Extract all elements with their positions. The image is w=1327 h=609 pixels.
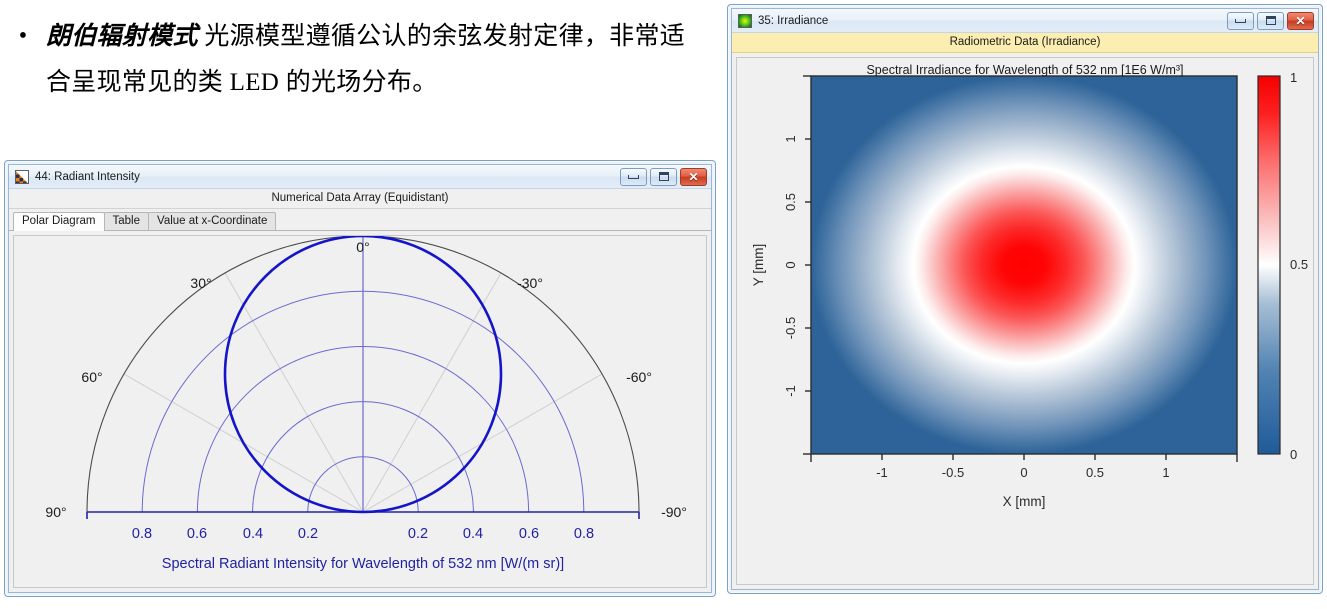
xaxis bbox=[811, 454, 1237, 462]
green-gradient-icon bbox=[738, 14, 752, 28]
ytick-1: 1 bbox=[783, 135, 798, 142]
polar-angle-labels: 0° 30° -30° 60° -60° 90° -90° bbox=[45, 239, 687, 520]
rtick-left-0.2: 0.2 bbox=[298, 526, 318, 542]
heatmap-chart-svg: 1 0.5 0 -0.5 -1 Y [mm] bbox=[737, 58, 1317, 588]
radiant-window-controls[interactable]: ✕ bbox=[620, 168, 709, 186]
rtick-left-0.6: 0.6 bbox=[187, 526, 207, 542]
irradiance-plot-title: Spectral Irradiance for Wavelength of 53… bbox=[732, 63, 1318, 77]
ytick-0.5: 0.5 bbox=[783, 193, 798, 211]
ytick-0: 0 bbox=[783, 261, 798, 268]
xtick-1: 1 bbox=[1162, 465, 1169, 480]
xaxis-tick-labels: -1 -0.5 0 0.5 1 bbox=[876, 465, 1169, 480]
minimize-icon bbox=[1235, 19, 1246, 23]
close-button[interactable]: ✕ bbox=[680, 168, 707, 186]
irradiance-window-inner: 35: Irradiance ✕ Radiometric Data (Irrad… bbox=[731, 8, 1319, 590]
maximize-button[interactable] bbox=[650, 168, 677, 186]
xtick-0: 0 bbox=[1020, 465, 1027, 480]
spoke-minus30 bbox=[363, 273, 501, 512]
close-button[interactable]: ✕ bbox=[1287, 12, 1314, 30]
radiant-window-title: 44: Radiant Intensity bbox=[35, 171, 620, 183]
minimize-button[interactable] bbox=[620, 168, 647, 186]
radiant-window-inner: 44: Radiant Intensity ✕ Numerical Data A… bbox=[8, 164, 712, 593]
polar-chart-svg: 0° 30° -30° 60° -60° 90° -90° 0.8 0.6 0.… bbox=[14, 236, 711, 592]
polar-radial-labels: 0.8 0.6 0.4 0.2 0.2 0.4 0.6 0.8 bbox=[132, 526, 594, 542]
polar-grid bbox=[87, 236, 639, 519]
xaxis-label: X [mm] bbox=[1003, 494, 1046, 509]
cbtick-0: 0 bbox=[1290, 447, 1297, 462]
radiant-intensity-window[interactable]: 44: Radiant Intensity ✕ Numerical Data A… bbox=[4, 160, 716, 597]
colorbar-tick-labels: 1 0.5 0 bbox=[1290, 70, 1308, 462]
checkerboard-icon bbox=[15, 170, 29, 184]
irradiance-subtitle: Radiometric Data (Irradiance) bbox=[732, 33, 1318, 53]
maximize-button[interactable] bbox=[1257, 12, 1284, 30]
bullet-emphasis: 朗伯辐射模式 bbox=[46, 23, 198, 50]
bullet-marker: • bbox=[0, 14, 46, 58]
tab-value-at-x-coordinate[interactable]: Value at x-Coordinate bbox=[148, 212, 276, 230]
spoke-30 bbox=[225, 273, 363, 512]
rtick-right-0.6: 0.6 bbox=[519, 526, 539, 542]
xtick-minus05: -0.5 bbox=[942, 465, 964, 480]
ytick-minus1: -1 bbox=[783, 385, 798, 397]
radiant-tabstrip[interactable]: Polar Diagram Table Value at x-Coordinat… bbox=[9, 209, 711, 231]
angle-label-0: 0° bbox=[356, 239, 369, 255]
ytick-minus05: -0.5 bbox=[783, 317, 798, 339]
yaxis-tick-labels: 1 0.5 0 -0.5 -1 bbox=[783, 135, 798, 396]
xtick-minus1: -1 bbox=[876, 465, 888, 480]
irradiance-titlebar[interactable]: 35: Irradiance ✕ bbox=[732, 9, 1318, 33]
minimize-button[interactable] bbox=[1227, 12, 1254, 30]
yaxis-label: Y [mm] bbox=[751, 244, 766, 287]
irradiance-window-controls[interactable]: ✕ bbox=[1227, 12, 1316, 30]
rtick-right-0.4: 0.4 bbox=[463, 526, 483, 542]
angle-label-30: 30° bbox=[190, 275, 211, 291]
irradiance-plot-pane: 1 0.5 0 -0.5 -1 Y [mm] bbox=[736, 57, 1314, 585]
heatmap-image bbox=[811, 76, 1237, 454]
angle-label-60: 60° bbox=[81, 369, 102, 385]
rtick-right-0.8: 0.8 bbox=[574, 526, 594, 542]
polar-plot-pane: 0° 30° -30° 60° -60° 90° -90° 0.8 0.6 0.… bbox=[13, 235, 707, 588]
xtick-05: 0.5 bbox=[1086, 465, 1104, 480]
irradiance-window[interactable]: 35: Irradiance ✕ Radiometric Data (Irrad… bbox=[727, 4, 1323, 594]
polar-xaxis-label: Spectral Radiant Intensity for Wavelengt… bbox=[162, 556, 564, 572]
close-icon: ✕ bbox=[1295, 15, 1305, 27]
angle-label-minus30: -30° bbox=[517, 275, 543, 291]
bullet-paragraph: • 朗伯辐射模式 光源模型遵循公认的余弦发射定律，非常适合呈现常见的类 LED … bbox=[0, 14, 700, 106]
colorbar bbox=[1258, 76, 1280, 454]
yaxis bbox=[803, 76, 811, 454]
angle-label-minus90: -90° bbox=[661, 504, 687, 520]
bullet-text: 朗伯辐射模式 光源模型遵循公认的余弦发射定律，非常适合呈现常见的类 LED 的光… bbox=[46, 14, 700, 106]
tab-table[interactable]: Table bbox=[104, 212, 150, 230]
tab-polar-diagram[interactable]: Polar Diagram bbox=[13, 212, 105, 231]
rtick-left-0.8: 0.8 bbox=[132, 526, 152, 542]
minimize-icon bbox=[628, 175, 639, 179]
irradiance-plot-canvas: 1 0.5 0 -0.5 -1 Y [mm] bbox=[732, 53, 1318, 589]
close-icon: ✕ bbox=[688, 171, 698, 183]
radiant-subtitle: Numerical Data Array (Equidistant) bbox=[9, 189, 711, 209]
angle-label-minus60: -60° bbox=[626, 369, 652, 385]
rtick-right-0.2: 0.2 bbox=[408, 526, 428, 542]
maximize-icon bbox=[659, 172, 669, 181]
irradiance-window-title: 35: Irradiance bbox=[758, 15, 1227, 27]
rtick-left-0.4: 0.4 bbox=[243, 526, 263, 542]
angle-label-90: 90° bbox=[45, 504, 66, 520]
cbtick-0.5: 0.5 bbox=[1290, 257, 1308, 272]
radiant-titlebar[interactable]: 44: Radiant Intensity ✕ bbox=[9, 165, 711, 189]
maximize-icon bbox=[1266, 16, 1276, 25]
polar-diagram-canvas: 0° 30° -30° 60° -60° 90° -90° 0.8 0.6 0.… bbox=[9, 231, 711, 592]
